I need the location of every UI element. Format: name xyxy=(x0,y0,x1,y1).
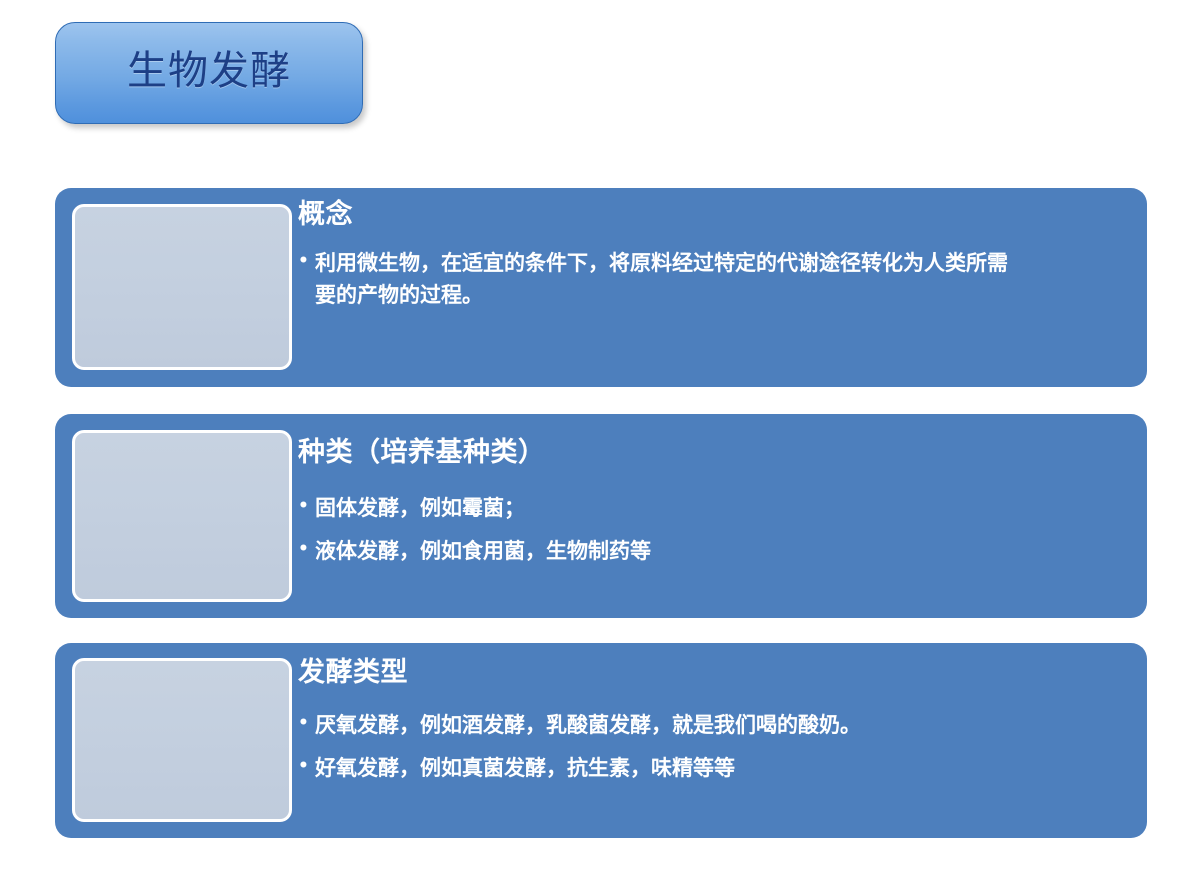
content-panel-types[interactable]: 种类（培养基种类） 固体发酵，例如霉菌； 液体发酵，例如食用菌，生物制药等 xyxy=(55,414,1147,618)
panel-body: 种类（培养基种类） 固体发酵，例如霉菌； 液体发酵，例如食用菌，生物制药等 xyxy=(298,414,1133,618)
content-panel-concept[interactable]: 概念 利用微生物，在适宜的条件下，将原料经过特定的代谢途径转化为人类所需 要的产… xyxy=(55,188,1147,387)
bullet-line-1: 厌氧发酵，例如酒发酵，乳酸菌发酵，就是我们喝的酸奶。 xyxy=(315,709,1133,742)
list-item: 液体发酵，例如食用菌，生物制药等 xyxy=(298,535,1133,568)
bullet-line-1: 利用微生物，在适宜的条件下，将原料经过特定的代谢途径转化为人类所需 xyxy=(315,247,1133,280)
bullet-list: 固体发酵，例如霉菌； 液体发酵，例如食用菌，生物制药等 xyxy=(298,492,1133,568)
image-placeholder xyxy=(72,658,292,822)
bullet-line-1: 液体发酵，例如食用菌，生物制药等 xyxy=(315,535,1133,568)
bullet-list: 利用微生物，在适宜的条件下，将原料经过特定的代谢途径转化为人类所需 要的产物的过… xyxy=(298,247,1133,312)
bullet-line-1: 好氧发酵，例如真菌发酵，抗生素，味精等等 xyxy=(315,752,1133,785)
bullet-list: 厌氧发酵，例如酒发酵，乳酸菌发酵，就是我们喝的酸奶。 好氧发酵，例如真菌发酵，抗… xyxy=(298,709,1133,785)
slide-title-text: 生物发酵 xyxy=(127,51,291,95)
bullet-line-1: 固体发酵，例如霉菌； xyxy=(315,492,1133,525)
panel-body: 发酵类型 厌氧发酵，例如酒发酵，乳酸菌发酵，就是我们喝的酸奶。 好氧发酵，例如真… xyxy=(298,643,1133,838)
panel-heading: 发酵类型 xyxy=(298,643,1133,688)
list-item: 利用微生物，在适宜的条件下，将原料经过特定的代谢途径转化为人类所需 要的产物的过… xyxy=(298,247,1133,312)
list-item: 厌氧发酵，例如酒发酵，乳酸菌发酵，就是我们喝的酸奶。 xyxy=(298,709,1133,742)
bullet-line-2: 要的产物的过程。 xyxy=(315,279,1133,312)
content-panel-fermentation-types[interactable]: 发酵类型 厌氧发酵，例如酒发酵，乳酸菌发酵，就是我们喝的酸奶。 好氧发酵，例如真… xyxy=(55,643,1147,838)
image-placeholder xyxy=(72,430,292,602)
panel-body: 概念 利用微生物，在适宜的条件下，将原料经过特定的代谢途径转化为人类所需 要的产… xyxy=(298,188,1133,387)
list-item: 固体发酵，例如霉菌； xyxy=(298,492,1133,525)
panel-heading: 概念 xyxy=(298,188,1133,230)
slide-title-button[interactable]: 生物发酵 xyxy=(55,22,363,124)
panel-heading: 种类（培养基种类） xyxy=(298,414,1133,468)
list-item: 好氧发酵，例如真菌发酵，抗生素，味精等等 xyxy=(298,752,1133,785)
image-placeholder xyxy=(72,204,292,370)
